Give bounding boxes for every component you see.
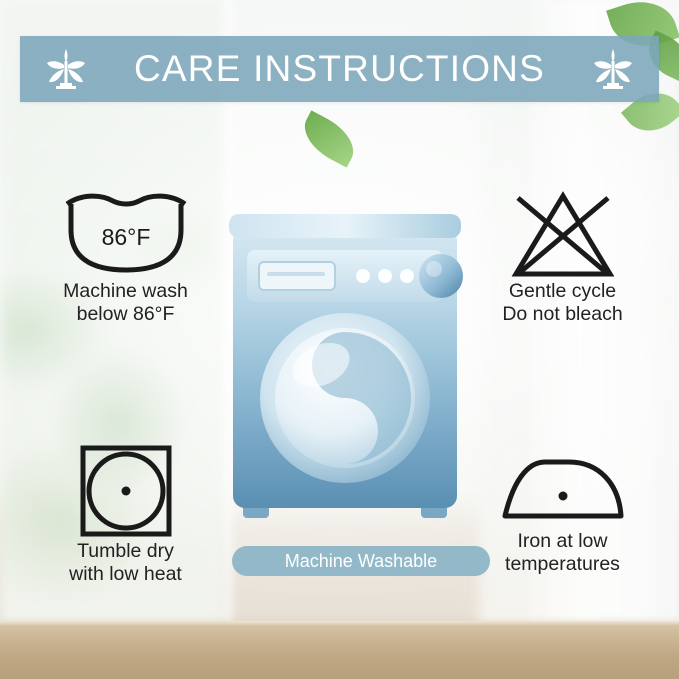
header-banner: CARE INSTRUCTIONS: [20, 36, 659, 102]
fleur-de-lis-icon: [38, 47, 94, 91]
page-title: CARE INSTRUCTIONS: [134, 48, 545, 90]
indicator-light: [356, 269, 370, 283]
badge-label: Machine Washable: [285, 551, 437, 572]
tumble-dry-square-circle-icon: [18, 440, 233, 540]
care-item-gentle-cycle-no-bleach: Gentle cycle Do not bleach: [455, 190, 670, 326]
machine-washable-badge: Machine Washable: [232, 546, 490, 576]
care-item-label: Machine wash below 86°F: [18, 280, 233, 326]
fleur-de-lis-icon: [585, 47, 641, 91]
wooden-table: [0, 621, 679, 679]
iron-icon: [455, 440, 670, 530]
control-dial-knob: [419, 254, 463, 298]
care-item-label: Tumble dry with low heat: [18, 540, 233, 586]
crossed-triangle-bleach-icon: [455, 190, 670, 280]
washer-top: [229, 214, 461, 238]
wash-tub-icon: 86°F: [18, 190, 233, 280]
washing-machine-illustration: [225, 200, 465, 540]
care-item-tumble-dry-low: Tumble dry with low heat: [18, 440, 233, 586]
indicator-light: [378, 269, 392, 283]
care-item-machine-wash: 86°F Machine wash below 86°F: [18, 190, 233, 326]
indicator-light: [400, 269, 414, 283]
care-item-label: Gentle cycle Do not bleach: [455, 280, 670, 326]
wash-temperature-text: 86°F: [101, 224, 150, 250]
